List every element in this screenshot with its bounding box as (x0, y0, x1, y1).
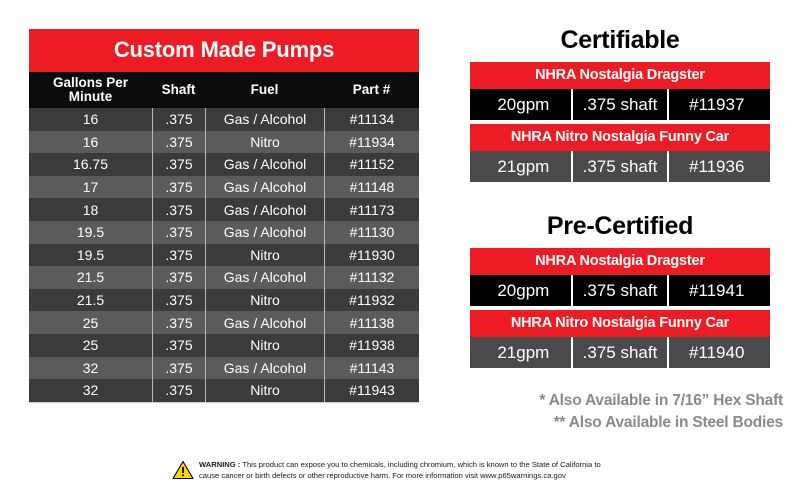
cell-part: #11138 (324, 311, 419, 334)
footnote-steel-bodies: ** Also Available in Steel Bodies (463, 412, 783, 434)
cell-part: #11943 (324, 379, 419, 402)
table-row: 18.375Gas / Alcohol#11173 (29, 198, 419, 221)
cell-gallons-per-minute: 16 (29, 108, 152, 131)
cell-fuel: Nitro (205, 334, 324, 357)
cell-part: #11934 (324, 131, 419, 154)
cell-fuel: Gas / Alcohol (205, 311, 324, 334)
cell-fuel: Gas / Alcohol (205, 221, 324, 244)
cell-gpm: 20gpm (476, 275, 571, 306)
prop65-warning: WARNING : This product can expose you to… (172, 459, 692, 485)
cell-shaft: .375 (152, 334, 205, 357)
warning-text: WARNING : This product can expose you to… (199, 459, 601, 481)
group-header: NHRA Nostalgia Dragster (470, 248, 770, 275)
cell-gpm: 21gpm (476, 337, 571, 368)
cell-gallons-per-minute: 18 (29, 198, 152, 221)
cell-fuel: Gas / Alcohol (205, 153, 324, 176)
cell-shaft: .375 shaft (571, 151, 668, 182)
table-row: 16.375Gas / Alcohol#11134 (29, 108, 419, 131)
group-data-row: 20gpm.375 shaft#11937 (470, 89, 770, 120)
table-row: 17.375Gas / Alcohol#11148 (29, 176, 419, 199)
footnote-hex-shaft: * Also Available in 7/16” Hex Shaft (463, 390, 783, 412)
cell-shaft: .375 (152, 266, 205, 289)
cell-shaft: .375 shaft (571, 89, 668, 120)
section-pre-certified: Pre-CertifiedNHRA Nostalgia Dragster20gp… (470, 212, 770, 372)
cell-part: #11173 (324, 198, 419, 221)
cell-shaft: .375 (152, 244, 205, 267)
cell-part: #11152 (324, 153, 419, 176)
table-row: 32.375Nitro#11943 (29, 379, 419, 402)
cell-gallons-per-minute: 19.5 (29, 221, 152, 244)
table-row: 16.75.375Gas / Alcohol#11152 (29, 153, 419, 176)
section-title: Pre-Certified (470, 212, 770, 241)
section-title: Certifiable (470, 26, 770, 55)
column-header-gallons-per-minute: Gallons Per Minute (29, 76, 152, 104)
group-data-row: 21gpm.375 shaft#11940 (470, 337, 770, 368)
cell-part: #11936 (667, 151, 764, 182)
cell-part: #11932 (324, 289, 419, 312)
cell-part: #11938 (324, 334, 419, 357)
cell-shaft: .375 (152, 153, 205, 176)
cell-fuel: Gas / Alcohol (205, 176, 324, 199)
cell-gallons-per-minute: 21.5 (29, 266, 152, 289)
cell-part: #11937 (667, 89, 764, 120)
warning-line1: This product can expose you to chemicals… (240, 460, 600, 469)
cell-part: #11134 (324, 108, 419, 131)
cell-part: #11940 (667, 337, 764, 368)
table-row: 19.5.375Gas / Alcohol#11130 (29, 221, 419, 244)
column-header-gpm-line1: Gallons Per (53, 75, 128, 90)
cell-gpm: 20gpm (476, 89, 571, 120)
warning-label: WARNING : (199, 460, 240, 469)
table-row: 25.375Nitro#11938 (29, 334, 419, 357)
cell-gallons-per-minute: 19.5 (29, 244, 152, 267)
cell-fuel: Nitro (205, 289, 324, 312)
cell-fuel: Gas / Alcohol (205, 198, 324, 221)
cell-fuel: Nitro (205, 131, 324, 154)
cell-shaft: .375 (152, 108, 205, 131)
table-row: 32.375Gas / Alcohol#11143 (29, 357, 419, 380)
section-certifiable: CertifiableNHRA Nostalgia Dragster20gpm.… (470, 26, 770, 186)
cell-gallons-per-minute: 32 (29, 379, 152, 402)
cell-shaft: .375 (152, 357, 205, 380)
group-header: NHRA Nitro Nostalgia Funny Car (470, 310, 770, 337)
cell-gallons-per-minute: 25 (29, 334, 152, 357)
warning-triangle-icon (172, 460, 194, 485)
cell-shaft: .375 (152, 289, 205, 312)
table-row: 16.375Nitro#11934 (29, 131, 419, 154)
cell-gpm: 21gpm (476, 151, 571, 182)
cell-shaft: .375 (152, 379, 205, 402)
cell-fuel: Gas / Alcohol (205, 108, 324, 131)
cell-gallons-per-minute: 21.5 (29, 289, 152, 312)
cell-gallons-per-minute: 16 (29, 131, 152, 154)
group-data-row: 20gpm.375 shaft#11941 (470, 275, 770, 306)
cell-gallons-per-minute: 25 (29, 311, 152, 334)
left-table-body: 16.375Gas / Alcohol#1113416.375Nitro#119… (29, 108, 419, 403)
cell-gallons-per-minute: 16.75 (29, 153, 152, 176)
column-header-shaft: Shaft (152, 83, 205, 97)
footnotes: * Also Available in 7/16” Hex Shaft ** A… (463, 390, 783, 435)
cell-shaft: .375 (152, 311, 205, 334)
table-row: 21.5.375Nitro#11932 (29, 289, 419, 312)
cell-shaft: .375 (152, 131, 205, 154)
cell-part: #11130 (324, 221, 419, 244)
table-row: 25.375Gas / Alcohol#11138 (29, 311, 419, 334)
cell-part: #11148 (324, 176, 419, 199)
cell-shaft: .375 (152, 176, 205, 199)
group-header: NHRA Nitro Nostalgia Funny Car (470, 124, 770, 151)
column-header-part: Part # (324, 83, 419, 97)
cell-shaft: .375 (152, 198, 205, 221)
table-row: 21.5.375Gas / Alcohol#11132 (29, 266, 419, 289)
cell-fuel: Gas / Alcohol (205, 266, 324, 289)
left-table-title: Custom Made Pumps (29, 29, 419, 72)
custom-made-pumps-table: Custom Made Pumps Gallons Per Minute Sha… (29, 29, 419, 403)
cell-fuel: Gas / Alcohol (205, 357, 324, 380)
cell-gallons-per-minute: 32 (29, 357, 152, 380)
cell-fuel: Nitro (205, 379, 324, 402)
cell-part: #11941 (667, 275, 764, 306)
cell-shaft: .375 (152, 221, 205, 244)
cell-shaft: .375 shaft (571, 337, 668, 368)
cell-fuel: Nitro (205, 244, 324, 267)
warning-line2: cause cancer or birth defects or other r… (199, 471, 566, 480)
cell-part: #11132 (324, 266, 419, 289)
column-header-fuel: Fuel (205, 83, 324, 97)
cell-part: #11930 (324, 244, 419, 267)
left-table-header-row: Gallons Per Minute Shaft Fuel Part # (29, 72, 419, 108)
group-header: NHRA Nostalgia Dragster (470, 62, 770, 89)
cell-part: #11143 (324, 357, 419, 380)
column-header-gpm-line2: Minute (69, 89, 113, 104)
cell-gallons-per-minute: 17 (29, 176, 152, 199)
cell-shaft: .375 shaft (571, 275, 668, 306)
group-data-row: 21gpm.375 shaft#11936 (470, 151, 770, 182)
table-row: 19.5.375Nitro#11930 (29, 244, 419, 267)
